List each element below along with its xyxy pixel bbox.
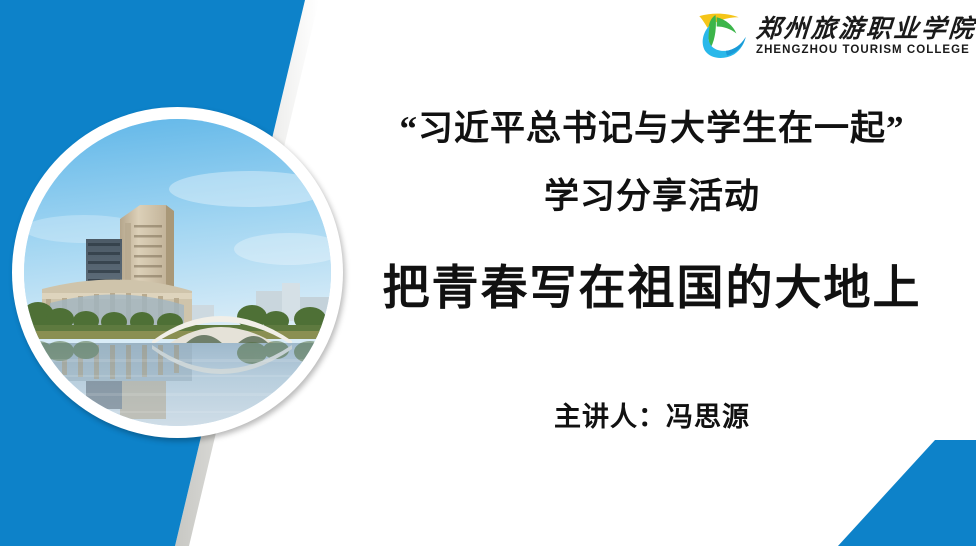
slide-subtitle-line-1: “习近平总书记与大学生在一起”	[352, 100, 952, 151]
presenter-name: 主讲人：冯思源	[352, 395, 952, 434]
slide-subtitle-line-2: 学习分享活动	[352, 168, 952, 219]
slide-headline: 把青春写在祖国的大地上	[352, 249, 952, 318]
campus-photo	[24, 119, 331, 426]
campus-photo-illustration	[24, 119, 331, 426]
slide-text-column: “习近平总书记与大学生在一起” 学习分享活动 把青春写在祖国的大地上 主讲人：冯…	[352, 0, 952, 546]
presentation-slide: 郑州旅游职业学院 ZHENGZHOU TOURISM COLLEGE	[0, 0, 976, 546]
campus-photo-frame	[12, 107, 343, 438]
